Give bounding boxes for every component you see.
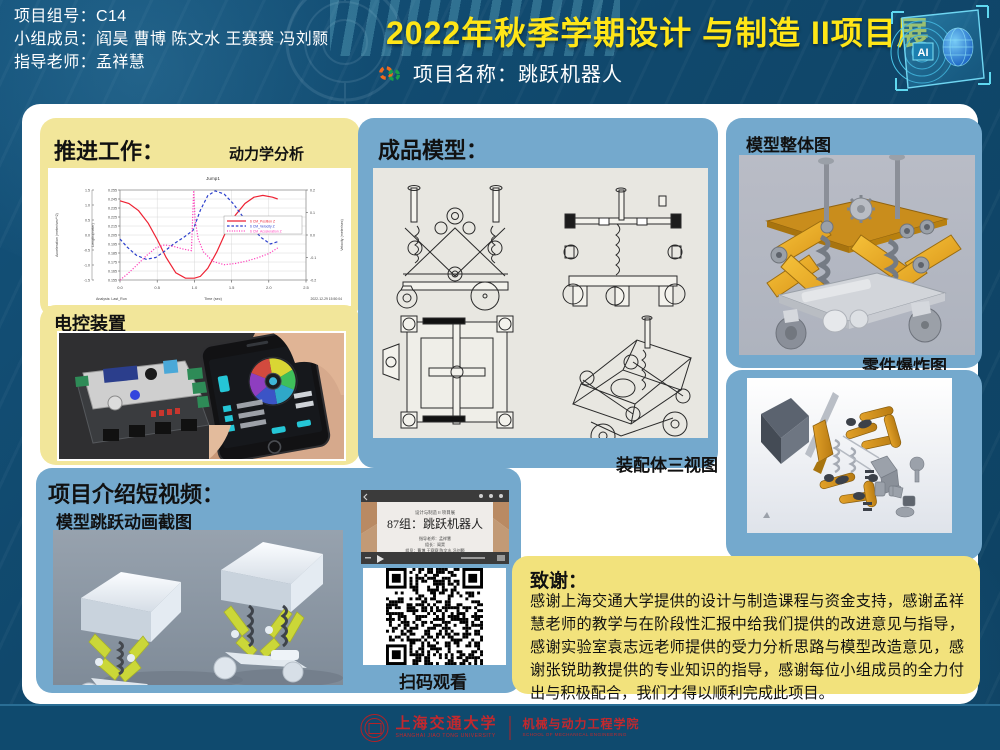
ack-body: 感谢上海交通大学提供的设计与制造课程与资金支持，感谢孟祥慧老师的教学与在阶段性汇… xyxy=(530,590,964,705)
whole-model-title: 模型整体图 xyxy=(746,131,831,156)
svg-text:0.195: 0.195 xyxy=(108,243,117,247)
svg-text:Acceleration (meter/sec**2): Acceleration (meter/sec**2) xyxy=(55,213,59,257)
advisor: 指导老师：孟祥慧 xyxy=(14,51,329,74)
page-title: 2022年秋季学期设计 与制造 II项目展 xyxy=(386,8,930,54)
svg-text:2.5: 2.5 xyxy=(303,285,309,290)
svg-text:0.1: 0.1 xyxy=(310,211,315,215)
svg-text:1.5: 1.5 xyxy=(229,285,235,290)
university-name-en: SHANGHAI JIAO TONG UNIVERSITY xyxy=(395,734,497,739)
svg-text:Velocity (meter/sec): Velocity (meter/sec) xyxy=(340,219,344,251)
model-caption: 装配体三视图 xyxy=(616,451,718,476)
svg-text:指导老师：孟祥慧: 指导老师：孟祥慧 xyxy=(419,535,451,541)
exploded-view-render xyxy=(747,378,952,533)
electronics-photo xyxy=(57,331,346,461)
svg-text:-0.1: -0.1 xyxy=(310,256,316,260)
poster-header: 项目组号：C14 小组成员：阎昊 曹博 陈文水 王赛赛 冯刘颢 指导老师：孟祥慧… xyxy=(0,0,1000,102)
dynamics-chart: Jump10.00.51.01.52.02.50.2550.2450.2350.… xyxy=(48,168,351,306)
svg-text:-1.5: -1.5 xyxy=(84,279,90,283)
school-name-block: 机械与动力工程学院 SCHOOL OF MECHANICAL ENGINEERI… xyxy=(523,718,640,738)
footer-divider xyxy=(510,716,511,740)
svg-text:Time (sec): Time (sec) xyxy=(204,297,223,301)
svg-text:6 CM_Velocity Z: 6 CM_Velocity Z xyxy=(250,224,275,228)
svg-text:AI: AI xyxy=(918,47,929,59)
svg-text:0.5: 0.5 xyxy=(85,219,90,223)
svg-text:0.2: 0.2 xyxy=(310,189,315,193)
svg-text:0.0: 0.0 xyxy=(117,285,123,290)
project-name-label: 项目名称：跳跃机器人 xyxy=(413,58,623,87)
svg-text:0.185: 0.185 xyxy=(108,252,117,256)
university-name-cn: 上海交通大学 xyxy=(395,717,497,733)
project-name-row: 项目名称：跳跃机器人 xyxy=(376,58,623,87)
svg-text:0.255: 0.255 xyxy=(108,189,117,193)
svg-text:0.165: 0.165 xyxy=(108,270,117,274)
animation-screenshot xyxy=(53,530,343,685)
svg-text:0.175: 0.175 xyxy=(108,261,117,265)
svg-text:2022-12-29 15:50:04: 2022-12-29 15:50:04 xyxy=(311,297,343,301)
school-name-en: SCHOOL OF MECHANICAL ENGINEERING xyxy=(523,733,640,738)
university-seal-icon xyxy=(360,714,388,742)
svg-text:0.235: 0.235 xyxy=(108,207,117,211)
video-title: 项目介绍短视频： xyxy=(48,477,224,509)
svg-text:Length (meter): Length (meter) xyxy=(91,223,95,247)
qr-caption: 扫码观看 xyxy=(399,668,467,693)
svg-text:0.205: 0.205 xyxy=(108,234,117,238)
poster-root: 项目组号：C14 小组成员：阎昊 曹博 陈文水 王赛赛 冯刘颢 指导老师：孟祥慧… xyxy=(0,0,1000,750)
gear-icon xyxy=(376,60,402,86)
svg-text:-0.5: -0.5 xyxy=(84,249,90,253)
svg-text:1.0: 1.0 xyxy=(192,285,198,290)
university-name-block: 上海交通大学 SHANGHAI JIAO TONG UNIVERSITY xyxy=(395,717,497,740)
work-subtitle: 动力学分析 xyxy=(229,143,304,164)
svg-text:6 CM_Position Z: 6 CM_Position Z xyxy=(250,219,275,223)
ai-face-scan-icon: AI xyxy=(880,2,992,100)
school-name-cn: 机械与动力工程学院 xyxy=(523,718,640,731)
svg-text:2.0: 2.0 xyxy=(266,285,272,290)
svg-text:0.215: 0.215 xyxy=(108,225,117,229)
qr-code[interactable] xyxy=(363,568,506,665)
group-number: 项目组号：C14 xyxy=(14,5,329,28)
svg-text:-0.2: -0.2 xyxy=(310,279,316,283)
header-title-band: 2022年秋季学期设计 与制造 II项目展 项目名称：跳跃机器人 xyxy=(330,0,1000,102)
svg-text:87组：跳跃机器人: 87组：跳跃机器人 xyxy=(387,517,483,531)
work-title: 推进工作： xyxy=(54,134,164,166)
svg-text:0.245: 0.245 xyxy=(108,198,117,202)
svg-text:Analysis: Last_Run: Analysis: Last_Run xyxy=(96,297,127,301)
svg-text:0.5: 0.5 xyxy=(154,285,160,290)
thumb-small-title: 设计与制造 II 项目展 xyxy=(415,509,456,516)
svg-text:组员：曹博 王赛赛 陈文水 冯刘颢: 组员：曹博 王赛赛 陈文水 冯刘颢 xyxy=(405,547,464,553)
ack-title: 致谢： xyxy=(530,566,587,593)
svg-text:6 CM_Acceleration Z: 6 CM_Acceleration Z xyxy=(250,229,282,233)
model-title: 成品模型： xyxy=(378,133,488,165)
footer-logo-group: 上海交通大学 SHANGHAI JIAO TONG UNIVERSITY 机械与… xyxy=(360,714,639,742)
whole-model-render xyxy=(739,155,975,355)
svg-text:Jump1: Jump1 xyxy=(206,176,220,181)
svg-text:0.225: 0.225 xyxy=(108,216,117,220)
svg-text:组长：阎昊: 组长：阎昊 xyxy=(425,541,445,547)
svg-text:1.5: 1.5 xyxy=(85,189,90,193)
svg-text:-1.0: -1.0 xyxy=(84,264,90,268)
svg-text:1.0: 1.0 xyxy=(85,204,90,208)
svg-text:0.0: 0.0 xyxy=(85,234,90,238)
header-meta-block: 项目组号：C14 小组成员：阎昊 曹博 陈文水 王赛赛 冯刘颢 指导老师：孟祥慧 xyxy=(14,5,329,75)
group-members: 小组成员：阎昊 曹博 陈文水 王赛赛 冯刘颢 xyxy=(14,28,329,51)
svg-text:0.155: 0.155 xyxy=(108,279,117,283)
svg-text:0.0: 0.0 xyxy=(310,234,315,238)
video-thumbnail[interactable]: 设计与制造 II 项目展 87组：跳跃机器人 指导老师：孟祥慧 组长：阎昊 组员… xyxy=(361,490,509,564)
assembly-three-view-drawing xyxy=(373,168,708,438)
poster-footer: 上海交通大学 SHANGHAI JIAO TONG UNIVERSITY 机械与… xyxy=(0,704,1000,750)
